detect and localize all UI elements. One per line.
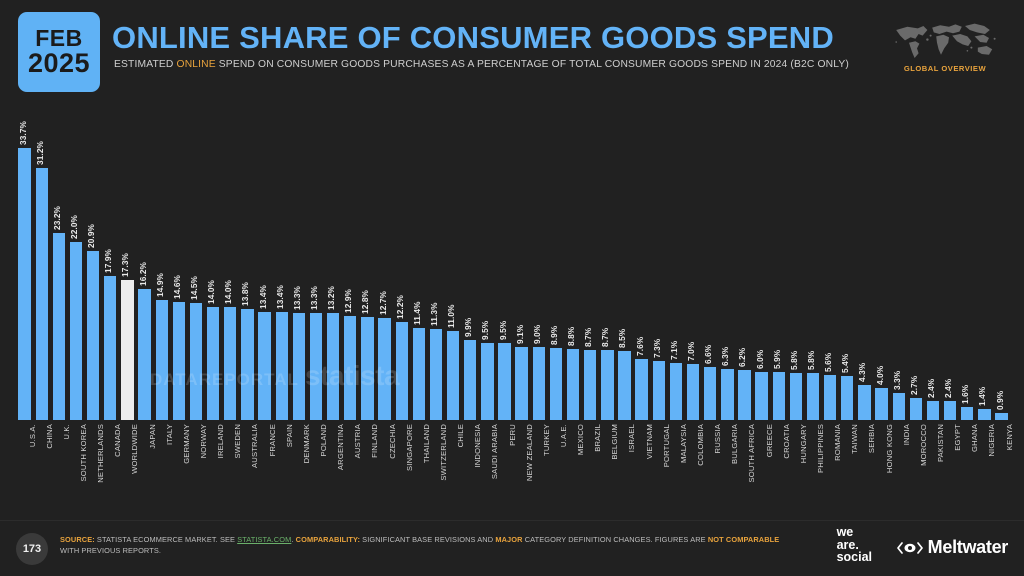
bar-item[interactable]: 7.1% [667, 104, 684, 420]
bar-value-label: 2.4% [926, 378, 936, 397]
bar-value-label: 8.5% [617, 329, 627, 348]
x-axis-tick: ARGENTINA [325, 424, 342, 512]
bar-value-label: 1.4% [977, 386, 987, 405]
x-axis-tick: AUSTRALIA [239, 424, 256, 512]
bar[interactable] [207, 307, 219, 420]
bar-value-label: 5.8% [806, 351, 816, 370]
x-axis-tick: RUSSIA [702, 424, 719, 512]
bar[interactable] [635, 359, 647, 420]
bar-item[interactable]: 3.3% [890, 104, 907, 420]
x-axis-tick: BELGIUM [599, 424, 616, 512]
bar[interactable] [515, 347, 527, 420]
world-map-icon [889, 18, 1001, 62]
x-axis-tick: EGYPT [942, 424, 959, 512]
comparability-major: MAJOR [495, 535, 522, 544]
bar-item[interactable]: 6.2% [736, 104, 753, 420]
bar-value-label: 6.3% [720, 347, 730, 366]
x-axis-tick: MOROCCO [907, 424, 924, 512]
bar-item[interactable]: 2.4% [924, 104, 941, 420]
x-axis-tick: CHINA [33, 424, 50, 512]
meltwater-logo: Meltwater [897, 537, 1008, 558]
date-badge-year: 2025 [28, 50, 90, 77]
bar[interactable] [53, 233, 65, 420]
bar-item[interactable]: 4.0% [873, 104, 890, 420]
bar-value-label: 9.5% [480, 321, 490, 340]
bar-value-label: 6.2% [737, 348, 747, 367]
bar[interactable] [121, 280, 133, 420]
bar-item[interactable]: 11.3% [427, 104, 444, 420]
x-axis-tick: INDIA [890, 424, 907, 512]
bar-item[interactable]: 23.2% [50, 104, 67, 420]
bar[interactable] [944, 401, 956, 420]
x-axis-tick: FRANCE [256, 424, 273, 512]
bar-item[interactable]: 13.3% [290, 104, 307, 420]
bar-item[interactable]: 20.9% [85, 104, 102, 420]
bar-item[interactable]: 13.8% [239, 104, 256, 420]
bar-value-label: 7.3% [652, 339, 662, 358]
bar-item[interactable]: 33.7% [16, 104, 33, 420]
bar-item[interactable]: 5.6% [822, 104, 839, 420]
bar[interactable] [995, 413, 1007, 420]
bar-item[interactable]: 9.5% [479, 104, 496, 420]
bar-item[interactable]: 6.3% [719, 104, 736, 420]
x-axis-tick: AUSTRIA [342, 424, 359, 512]
bar-item[interactable]: 8.8% [565, 104, 582, 420]
x-axis-labels: U.S.A.CHINAU.K.SOUTH KOREANETHERLANDSCAN… [16, 424, 1010, 512]
bar-value-label: 11.0% [446, 305, 456, 329]
bar-item[interactable]: 11.4% [410, 104, 427, 420]
bar-item[interactable]: 2.4% [942, 104, 959, 420]
bar-item[interactable]: 12.7% [376, 104, 393, 420]
bar[interactable] [190, 303, 202, 420]
x-axis-tick: FINLAND [359, 424, 376, 512]
bar-item[interactable]: 9.5% [496, 104, 513, 420]
x-axis-tick: KENYA [993, 424, 1010, 512]
footer: 173 SOURCE: STATISTA ECOMMERCE MARKET. S… [0, 520, 1024, 576]
x-axis-tick: MALAYSIA [667, 424, 684, 512]
bar-value-label: 14.0% [206, 280, 216, 304]
we-are-social-line-3: social [837, 551, 872, 564]
bar[interactable] [755, 372, 767, 420]
x-axis-tick: U.S.A. [16, 424, 33, 512]
bar[interactable] [807, 373, 819, 420]
bar[interactable] [224, 307, 236, 420]
bar-value-label: 20.9% [86, 224, 96, 248]
bar-item[interactable]: 14.6% [170, 104, 187, 420]
x-axis-tick: SWITZERLAND [427, 424, 444, 512]
x-axis-tick: GERMANY [170, 424, 187, 512]
bar-value-label: 6.6% [703, 344, 713, 363]
x-axis-tick: IRELAND [205, 424, 222, 512]
bar[interactable] [344, 316, 356, 420]
bar[interactable] [704, 367, 716, 420]
bar[interactable] [687, 364, 699, 420]
bar[interactable] [790, 373, 802, 420]
bar-item[interactable]: 5.4% [839, 104, 856, 420]
x-axis-tick: SWEDEN [222, 424, 239, 512]
bar-item[interactable]: 8.7% [582, 104, 599, 420]
bar-item[interactable]: 5.9% [770, 104, 787, 420]
bar-item[interactable]: 13.2% [325, 104, 342, 420]
bar[interactable] [773, 372, 785, 420]
bar-item[interactable]: 2.7% [907, 104, 924, 420]
bar[interactable] [87, 251, 99, 420]
x-axis-tick: DENMARK [290, 424, 307, 512]
bar-value-label: 7.1% [669, 340, 679, 359]
bar[interactable] [738, 370, 750, 420]
subtitle-post: SPEND ON CONSUMER GOODS PURCHASES AS A P… [216, 59, 849, 70]
bar-value-label: 14.5% [189, 276, 199, 300]
x-axis-tick: SERBIA [856, 424, 873, 512]
bar-value-label: 9.0% [532, 325, 542, 344]
header: FEB 2025 ONLINE SHARE OF CONSUMER GOODS … [0, 0, 1024, 100]
bar[interactable] [173, 302, 185, 420]
bar[interactable] [447, 331, 459, 420]
source-text: STATISTA ECOMMERCE MARKET. SEE [95, 535, 237, 544]
comparability-text-1: SIGNIFICANT BASE REVISIONS AND [360, 535, 495, 544]
bar-item[interactable]: 6.0% [753, 104, 770, 420]
meltwater-eye-icon [897, 541, 923, 555]
bar-value-label: 9.9% [463, 318, 473, 337]
bar-value-label: 12.8% [360, 290, 370, 314]
bar-item[interactable]: 12.2% [393, 104, 410, 420]
bar[interactable] [927, 401, 939, 420]
bar[interactable] [533, 347, 545, 420]
bar-item[interactable]: 22.0% [67, 104, 84, 420]
bar[interactable] [258, 312, 270, 420]
x-axis-tick: MEXICO [565, 424, 582, 512]
page-title: ONLINE SHARE OF CONSUMER GOODS SPEND [112, 20, 834, 56]
date-badge-month: FEB [35, 27, 83, 50]
bar[interactable] [893, 393, 905, 420]
bar-value-label: 8.7% [600, 327, 610, 346]
bar-value-label: 12.7% [378, 290, 388, 314]
x-axis-tick: NIGERIA [976, 424, 993, 512]
x-axis-tick: SOUTH AFRICA [736, 424, 753, 512]
bar[interactable] [156, 300, 168, 420]
bar-value-label: 14.0% [223, 280, 233, 304]
x-axis-tick: TURKEY [530, 424, 547, 512]
bar-value-label: 9.5% [498, 321, 508, 340]
bar[interactable] [978, 409, 990, 420]
bar[interactable] [670, 363, 682, 420]
bar[interactable] [36, 168, 48, 420]
bar-value-label: 13.3% [309, 286, 319, 310]
bar-value-label: 13.4% [258, 285, 268, 309]
bar[interactable] [824, 375, 836, 420]
bar-value-label: 12.2% [395, 295, 405, 319]
bar-value-label: 2.4% [943, 378, 953, 397]
bar[interactable] [104, 276, 116, 420]
bar-item[interactable]: 17.9% [102, 104, 119, 420]
bar[interactable] [378, 318, 390, 421]
bar-item[interactable]: 8.7% [599, 104, 616, 420]
x-axis-tick: VIETNAM [633, 424, 650, 512]
x-axis-tick: ISRAEL [616, 424, 633, 512]
bar-value-label: 17.9% [103, 249, 113, 273]
bar-value-label: 16.2% [138, 262, 148, 286]
bar-value-label: 7.0% [686, 341, 696, 360]
x-axis-tick: INDONESIA [462, 424, 479, 512]
x-axis-tick: WORLDWIDE [119, 424, 136, 512]
bar-item[interactable]: 8.9% [547, 104, 564, 420]
bar-item[interactable]: 14.0% [205, 104, 222, 420]
comparability-label: COMPARABILITY: [296, 535, 360, 544]
bar[interactable] [276, 312, 288, 420]
bar-item[interactable]: 6.6% [702, 104, 719, 420]
bar[interactable] [601, 350, 613, 420]
bar-value-label: 8.8% [566, 327, 576, 346]
bar-item[interactable]: 31.2% [33, 104, 50, 420]
bar[interactable] [618, 351, 630, 420]
bar-value-label: 13.8% [240, 282, 250, 306]
bar-series: 33.7%31.2%23.2%22.0%20.9%17.9%17.3%16.2%… [16, 104, 1010, 420]
bar-item[interactable]: 13.4% [273, 104, 290, 420]
bar-item[interactable]: 12.8% [359, 104, 376, 420]
bar-item[interactable]: 5.8% [787, 104, 804, 420]
comparability-not-comparable: NOT COMPARABLE [708, 535, 779, 544]
bar[interactable] [293, 313, 305, 420]
bar-item[interactable]: 17.3% [119, 104, 136, 420]
x-axis-tick: HONG KONG [873, 424, 890, 512]
bar-value-label: 9.1% [515, 324, 525, 343]
bar-item[interactable]: 9.9% [462, 104, 479, 420]
bar-item[interactable]: 11.0% [445, 104, 462, 420]
bar[interactable] [841, 376, 853, 420]
bar-value-label: 31.2% [35, 141, 45, 165]
bar-value-label: 8.7% [583, 327, 593, 346]
bar-value-label: 0.9% [995, 390, 1005, 409]
bar-value-label: 13.2% [326, 286, 336, 310]
bar-value-label: 4.0% [875, 365, 885, 384]
bar-value-label: 13.3% [292, 286, 302, 310]
x-axis-tick: PAKISTAN [924, 424, 941, 512]
bar-item[interactable]: 5.8% [804, 104, 821, 420]
bar-value-label: 11.4% [412, 301, 422, 325]
bar[interactable] [961, 407, 973, 420]
x-axis-tick: THAILAND [410, 424, 427, 512]
subtitle-highlight: ONLINE [177, 59, 216, 70]
x-axis-tick: HUNGARY [787, 424, 804, 512]
bar-value-label: 22.0% [69, 215, 79, 239]
x-axis-tick: GREECE [753, 424, 770, 512]
x-axis-tick-label: KENYA [1005, 424, 1014, 450]
x-axis-tick: ITALY [153, 424, 170, 512]
date-badge: FEB 2025 [18, 12, 100, 92]
bar-item[interactable]: 1.4% [976, 104, 993, 420]
comparability-text-2: CATEGORY DEFINITION CHANGES. FIGURES ARE [523, 535, 708, 544]
bar-item[interactable]: 7.3% [650, 104, 667, 420]
comparability-text-3: WITH PREVIOUS REPORTS. [60, 546, 161, 555]
x-axis-tick: NORWAY [187, 424, 204, 512]
we-are-social-logo: we are. social [837, 526, 872, 564]
x-axis-tick: POLAND [307, 424, 324, 512]
x-axis-tick: SPAIN [273, 424, 290, 512]
bar[interactable] [413, 328, 425, 420]
bar[interactable] [653, 361, 665, 420]
x-axis-tick: SOUTH KOREA [67, 424, 84, 512]
bar[interactable] [481, 343, 493, 420]
bar-item[interactable]: 7.6% [633, 104, 650, 420]
bar-item[interactable]: 12.9% [342, 104, 359, 420]
bar-value-label: 12.9% [343, 289, 353, 313]
bar-value-label: 4.3% [857, 363, 867, 382]
bar-item[interactable]: 9.1% [513, 104, 530, 420]
source-note: SOURCE: STATISTA ECOMMERCE MARKET. SEE S… [60, 534, 780, 556]
slide-root: FEB 2025 ONLINE SHARE OF CONSUMER GOODS … [0, 0, 1024, 576]
x-axis-tick: PORTUGAL [650, 424, 667, 512]
bar[interactable] [310, 313, 322, 420]
meltwater-wordmark: Meltwater [928, 537, 1008, 558]
x-axis-tick: BRAZIL [582, 424, 599, 512]
bar-item[interactable]: 13.4% [256, 104, 273, 420]
bar-item[interactable]: 13.3% [307, 104, 324, 420]
subtitle-pre: ESTIMATED [114, 59, 177, 70]
bar-item[interactable]: 14.9% [153, 104, 170, 420]
bar-value-label: 5.6% [823, 353, 833, 372]
bar-value-label: 14.9% [155, 273, 165, 297]
x-axis-tick: ROMANIA [822, 424, 839, 512]
bar[interactable] [241, 309, 253, 420]
we-are-social-line-1: we [837, 526, 872, 539]
bar-value-label: 3.3% [892, 371, 902, 390]
bar-value-label: 11.3% [429, 302, 439, 326]
bar-item[interactable]: 0.9% [993, 104, 1010, 420]
bar-value-label: 13.4% [275, 285, 285, 309]
source-label: SOURCE: [60, 535, 95, 544]
x-axis-tick: PHILIPPINES [804, 424, 821, 512]
bar-item[interactable]: 1.6% [959, 104, 976, 420]
bar[interactable] [875, 388, 887, 420]
bar[interactable] [858, 385, 870, 420]
bar[interactable] [584, 350, 596, 420]
bar-value-label: 2.7% [909, 376, 919, 395]
global-overview-badge: GLOBAL OVERVIEW [884, 18, 1006, 80]
x-axis-tick: TAIWAN [839, 424, 856, 512]
bar-value-label: 7.6% [635, 336, 645, 355]
bar-item[interactable]: 8.5% [616, 104, 633, 420]
x-axis-tick: U.K. [50, 424, 67, 512]
bar[interactable] [550, 348, 562, 420]
bar-item[interactable]: 16.2% [136, 104, 153, 420]
bar-value-label: 8.9% [549, 326, 559, 345]
x-axis-tick: PERU [496, 424, 513, 512]
x-axis-tick: GHANA [959, 424, 976, 512]
bar[interactable] [327, 313, 339, 420]
x-axis-tick: CHILE [445, 424, 462, 512]
bar-value-label: 1.6% [960, 385, 970, 404]
bar[interactable] [910, 398, 922, 420]
bar-value-label: 5.9% [772, 350, 782, 369]
bar-item[interactable]: 14.5% [187, 104, 204, 420]
bar-item[interactable]: 14.0% [222, 104, 239, 420]
x-axis-tick: BULGARIA [719, 424, 736, 512]
x-axis-tick: SINGAPORE [393, 424, 410, 512]
bar[interactable] [396, 322, 408, 420]
x-axis-tick: CANADA [102, 424, 119, 512]
bar[interactable] [430, 329, 442, 420]
bar-value-label: 23.2% [52, 206, 62, 230]
page-subtitle: ESTIMATED ONLINE SPEND ON CONSUMER GOODS… [114, 59, 849, 70]
bar-value-label: 5.8% [789, 351, 799, 370]
bar[interactable] [567, 349, 579, 420]
bar-value-label: 33.7% [18, 121, 28, 145]
statista-link[interactable]: STATISTA.COM [237, 535, 291, 544]
bar-value-label: 14.6% [172, 275, 182, 299]
x-axis-tick: U.A.E. [547, 424, 564, 512]
bar[interactable] [138, 289, 150, 420]
bar[interactable] [721, 369, 733, 420]
bar-value-label: 17.3% [120, 253, 130, 277]
bar[interactable] [18, 148, 30, 420]
bar-item[interactable]: 4.3% [856, 104, 873, 420]
bar[interactable] [464, 340, 476, 420]
bar[interactable] [70, 242, 82, 420]
bar-value-label: 6.0% [755, 349, 765, 368]
bar[interactable] [498, 343, 510, 420]
bar[interactable] [361, 317, 373, 420]
x-axis-tick: CZECHIA [376, 424, 393, 512]
global-overview-label: GLOBAL OVERVIEW [884, 64, 1006, 73]
x-axis-tick: SAUDI ARABIA [479, 424, 496, 512]
page-number-badge: 173 [16, 533, 48, 565]
x-axis-tick: NETHERLANDS [85, 424, 102, 512]
bar-item[interactable]: 9.0% [530, 104, 547, 420]
x-axis-tick: CROATIA [770, 424, 787, 512]
x-axis-tick: COLOMBIA [684, 424, 701, 512]
bar-value-label: 5.4% [840, 354, 850, 373]
x-axis-tick: NEW ZEALAND [513, 424, 530, 512]
x-axis-tick: JAPAN [136, 424, 153, 512]
bar-item[interactable]: 7.0% [684, 104, 701, 420]
bar-chart: 33.7%31.2%23.2%22.0%20.9%17.9%17.3%16.2%… [16, 104, 1010, 420]
